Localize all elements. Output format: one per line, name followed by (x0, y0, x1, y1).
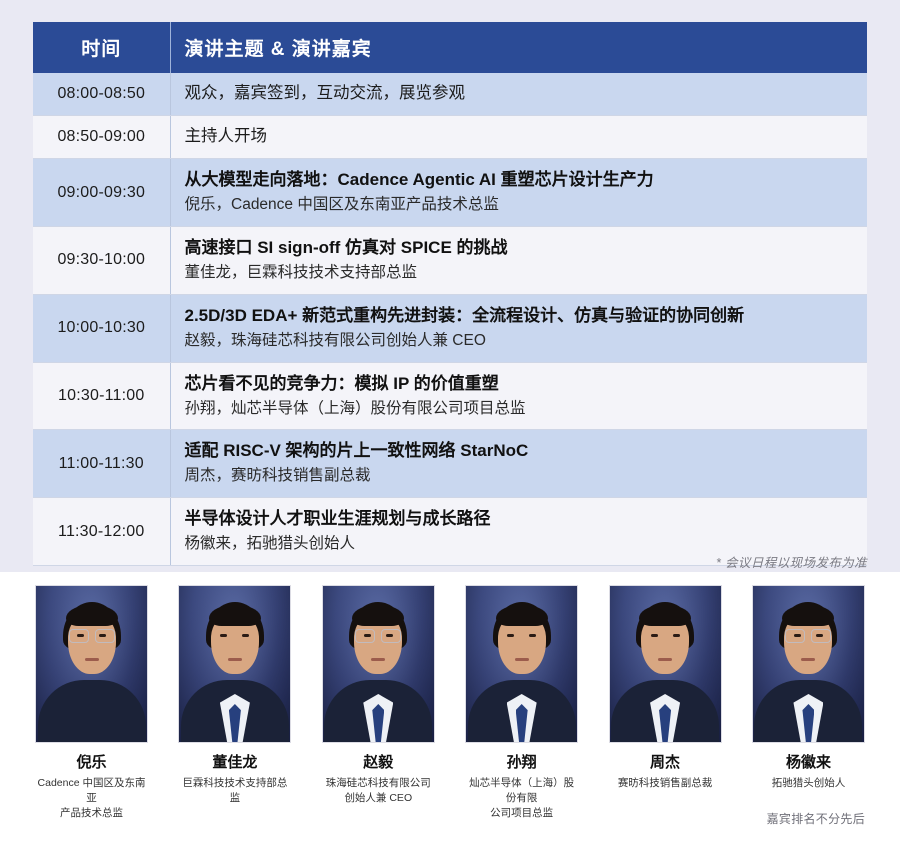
agenda-row-topic: 芯片看不见的竞争力：模拟 IP 的价值重塑孙翔，灿芯半导体（上海）股份有限公司项… (170, 362, 867, 430)
speaker-name: 倪乐 (35, 754, 148, 772)
portrait-eye-left (651, 634, 658, 637)
agenda-row-topic: 高速接口 SI sign-off 仿真对 SPICE 的挑战董佳龙，巨霖科技技术… (170, 226, 867, 294)
speaker-name: 赵毅 (322, 754, 435, 772)
portrait-fringe (639, 606, 691, 626)
speaker-name: 周杰 (609, 754, 722, 772)
agenda-row: 08:00-08:50观众，嘉宾签到，互动交流，展览参观 (33, 73, 867, 116)
agenda-row: 09:00-09:30从大模型走向落地：Cadence Agentic AI 重… (33, 159, 867, 227)
portrait-eye-right (242, 634, 249, 637)
agenda-topic-speaker: 赵毅，珠海硅芯科技有限公司创始人兼 CEO (185, 330, 854, 352)
speaker-title: 灿芯半导体（上海）股份有限 公司项目总监 (465, 776, 578, 822)
speaker-card: 周杰赛昉科技销售副总裁 (609, 585, 722, 822)
portrait-fringe (209, 606, 261, 626)
portrait-zhao-yi (322, 585, 435, 743)
agenda-topic-title: 观众，嘉宾签到，互动交流，展览参观 (185, 82, 854, 105)
speaker-title: 珠海硅芯科技有限公司 创始人兼 CEO (322, 776, 435, 806)
agenda-row-time: 09:30-10:00 (33, 226, 170, 294)
agenda-row: 08:50-09:00主持人开场 (33, 116, 867, 159)
portrait-mouth (371, 658, 385, 661)
speaker-card: 孙翔灿芯半导体（上海）股份有限 公司项目总监 (465, 585, 578, 822)
speaker-card: 董佳龙巨霖科技技术支持部总监 (178, 585, 291, 822)
agenda-row: 10:30-11:00芯片看不见的竞争力：模拟 IP 的价值重塑孙翔，灿芯半导体… (33, 362, 867, 430)
portrait-mouth (658, 658, 672, 661)
agenda-row-time: 09:00-09:30 (33, 159, 170, 227)
portrait-eye-left (220, 634, 227, 637)
agenda-topic-title: 高速接口 SI sign-off 仿真对 SPICE 的挑战 (185, 236, 854, 259)
agenda-topic-title: 半导体设计人才职业生涯规划与成长路径 (185, 507, 854, 530)
speaker-title: Cadence 中国区及东南亚 产品技术总监 (35, 776, 148, 822)
agenda-table-header: 时间 演讲主题 & 演讲嘉宾 (33, 22, 867, 73)
agenda-disclaimer-note: * 会议日程以现场发布为准 (716, 552, 867, 571)
agenda-table-body: 08:00-08:50观众，嘉宾签到，互动交流，展览参观08:50-09:00主… (33, 73, 867, 565)
portrait-fringe (352, 606, 404, 626)
agenda-row-topic: 主持人开场 (170, 116, 867, 159)
agenda-topic-title: 适配 RISC-V 架构的片上一致性网络 StarNoC (185, 439, 854, 462)
portrait-eye-right (529, 634, 536, 637)
speaker-title: 拓驰猎头创始人 (752, 776, 865, 791)
agenda-topic-speaker: 周杰，赛昉科技销售副总裁 (185, 465, 854, 487)
agenda-row: 10:00-10:302.5D/3D EDA+ 新范式重构先进封装：全流程设计、… (33, 294, 867, 362)
agenda-topic-title: 从大模型走向落地：Cadence Agentic AI 重塑芯片设计生产力 (185, 168, 854, 191)
agenda-row-time: 11:30-12:00 (33, 498, 170, 566)
speaker-card: 赵毅珠海硅芯科技有限公司 创始人兼 CEO (322, 585, 435, 822)
agenda-row: 11:00-11:30适配 RISC-V 架构的片上一致性网络 StarNoC周… (33, 430, 867, 498)
portrait-glasses (784, 629, 832, 642)
agenda-row-time: 08:00-08:50 (33, 73, 170, 116)
agenda-row-topic: 2.5D/3D EDA+ 新范式重构先进封装：全流程设计、仿真与验证的协同创新赵… (170, 294, 867, 362)
agenda-topic-title: 芯片看不见的竞争力：模拟 IP 的价值重塑 (185, 372, 854, 395)
portrait-yang-huilai (752, 585, 865, 743)
agenda-row-time: 08:50-09:00 (33, 116, 170, 159)
speaker-title: 巨霖科技技术支持部总监 (178, 776, 291, 806)
portrait-glasses (68, 629, 116, 642)
speakers-panel: 倪乐Cadence 中国区及东南亚 产品技术总监董佳龙巨霖科技技术支持部总监赵毅… (0, 572, 900, 842)
column-header-time: 时间 (33, 22, 170, 73)
portrait-ni-le (35, 585, 148, 743)
portrait-glasses (354, 629, 402, 642)
portrait-mouth (515, 658, 529, 661)
speaker-name: 杨徽来 (752, 754, 865, 772)
portrait-mouth (228, 658, 242, 661)
portrait-fringe (782, 606, 834, 626)
speakers-list: 倪乐Cadence 中国区及东南亚 产品技术总监董佳龙巨霖科技技术支持部总监赵毅… (35, 585, 865, 822)
portrait-eye-left (507, 634, 514, 637)
agenda-row-time: 11:00-11:30 (33, 430, 170, 498)
portrait-zhou-jie (609, 585, 722, 743)
agenda-table-container: 时间 演讲主题 & 演讲嘉宾 08:00-08:50观众，嘉宾签到，互动交流，展… (33, 22, 867, 566)
speaker-card: 倪乐Cadence 中国区及东南亚 产品技术总监 (35, 585, 148, 822)
portrait-eye-right (673, 634, 680, 637)
agenda-row-time: 10:30-11:00 (33, 362, 170, 430)
portrait-fringe (496, 606, 548, 626)
speaker-card: 杨徽来拓驰猎头创始人 (752, 585, 865, 822)
agenda-topic-title: 2.5D/3D EDA+ 新范式重构先进封装：全流程设计、仿真与验证的协同创新 (185, 304, 854, 327)
portrait-mouth (85, 658, 99, 661)
agenda-topic-speaker: 董佳龙，巨霖科技技术支持部总监 (185, 262, 854, 284)
agenda-table: 时间 演讲主题 & 演讲嘉宾 08:00-08:50观众，嘉宾签到，互动交流，展… (33, 22, 867, 566)
speaker-title: 赛昉科技销售副总裁 (609, 776, 722, 791)
portrait-sun-xiang (465, 585, 578, 743)
agenda-topic-title: 主持人开场 (185, 125, 854, 148)
column-header-topic: 演讲主题 & 演讲嘉宾 (170, 22, 867, 73)
agenda-row-time: 10:00-10:30 (33, 294, 170, 362)
agenda-row-topic: 从大模型走向落地：Cadence Agentic AI 重塑芯片设计生产力倪乐，… (170, 159, 867, 227)
agenda-row: 09:30-10:00高速接口 SI sign-off 仿真对 SPICE 的挑… (33, 226, 867, 294)
agenda-row-topic: 适配 RISC-V 架构的片上一致性网络 StarNoC周杰，赛昉科技销售副总裁 (170, 430, 867, 498)
portrait-dong-jialong (178, 585, 291, 743)
agenda-header-row: 时间 演讲主题 & 演讲嘉宾 (33, 22, 867, 73)
speakers-order-note: 嘉宾排名不分先后 (767, 810, 865, 827)
agenda-topic-speaker: 孙翔，灿芯半导体（上海）股份有限公司项目总监 (185, 398, 854, 420)
portrait-mouth (801, 658, 815, 661)
portrait-fringe (66, 606, 118, 626)
speaker-name: 孙翔 (465, 754, 578, 772)
agenda-topic-speaker: 倪乐，Cadence 中国区及东南亚产品技术总监 (185, 194, 854, 216)
speaker-name: 董佳龙 (178, 754, 291, 772)
agenda-row-topic: 观众，嘉宾签到，互动交流，展览参观 (170, 73, 867, 116)
